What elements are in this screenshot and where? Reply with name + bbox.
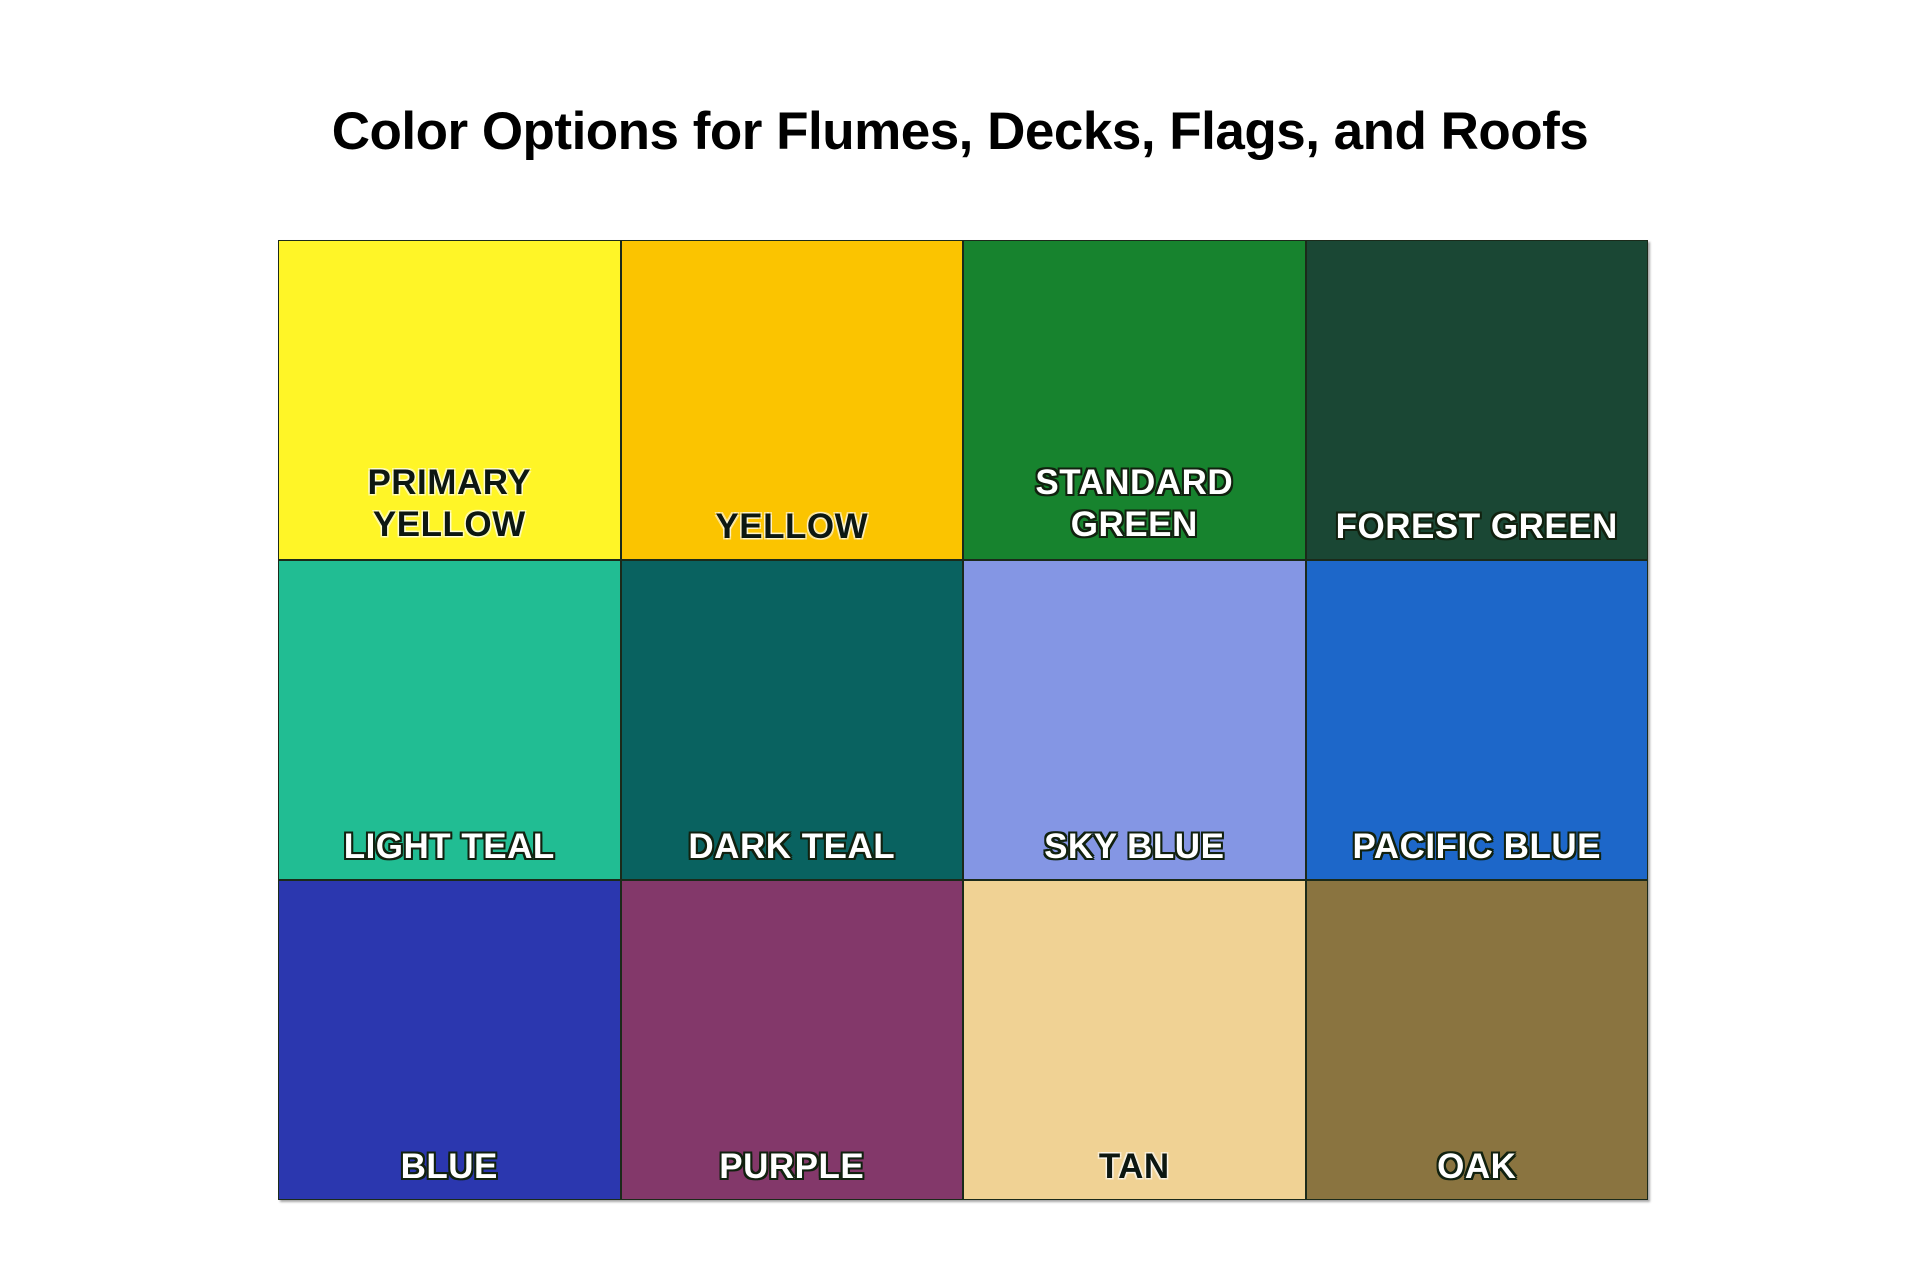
color-swatch-light-teal[interactable]: LIGHT TEAL <box>278 560 621 880</box>
color-swatch-blue[interactable]: BLUE <box>278 880 621 1200</box>
swatch-label-standard-green: STANDARD GREEN <box>964 462 1305 559</box>
swatch-label-sky-blue: SKY BLUE <box>964 826 1305 879</box>
color-swatch-standard-green[interactable]: STANDARD GREEN <box>963 240 1306 560</box>
color-swatch-primary-yellow[interactable]: PRIMARY YELLOW <box>278 240 621 560</box>
color-swatch-yellow[interactable]: YELLOW <box>621 240 964 560</box>
swatch-label-tan: TAN <box>964 1146 1305 1199</box>
swatch-label-blue: BLUE <box>279 1146 620 1199</box>
color-swatch-grid: PRIMARY YELLOWYELLOWSTANDARD GREENFOREST… <box>278 240 1648 1200</box>
swatch-label-oak: OAK <box>1307 1146 1648 1199</box>
swatch-label-pacific-blue: PACIFIC BLUE <box>1307 826 1648 879</box>
color-swatch-tan[interactable]: TAN <box>963 880 1306 1200</box>
swatch-label-light-teal: LIGHT TEAL <box>279 826 620 879</box>
swatch-label-yellow: YELLOW <box>622 506 963 559</box>
swatch-label-dark-teal: DARK TEAL <box>622 826 963 879</box>
color-swatch-forest-green[interactable]: FOREST GREEN <box>1306 240 1649 560</box>
color-swatch-sky-blue[interactable]: SKY BLUE <box>963 560 1306 880</box>
color-swatch-dark-teal[interactable]: DARK TEAL <box>621 560 964 880</box>
page-title: Color Options for Flumes, Decks, Flags, … <box>0 104 1920 160</box>
color-swatch-purple[interactable]: PURPLE <box>621 880 964 1200</box>
swatch-label-forest-green: FOREST GREEN <box>1307 506 1648 559</box>
color-swatch-oak[interactable]: OAK <box>1306 880 1649 1200</box>
swatch-label-primary-yellow: PRIMARY YELLOW <box>279 462 620 559</box>
swatch-label-purple: PURPLE <box>622 1146 963 1199</box>
color-swatch-pacific-blue[interactable]: PACIFIC BLUE <box>1306 560 1649 880</box>
